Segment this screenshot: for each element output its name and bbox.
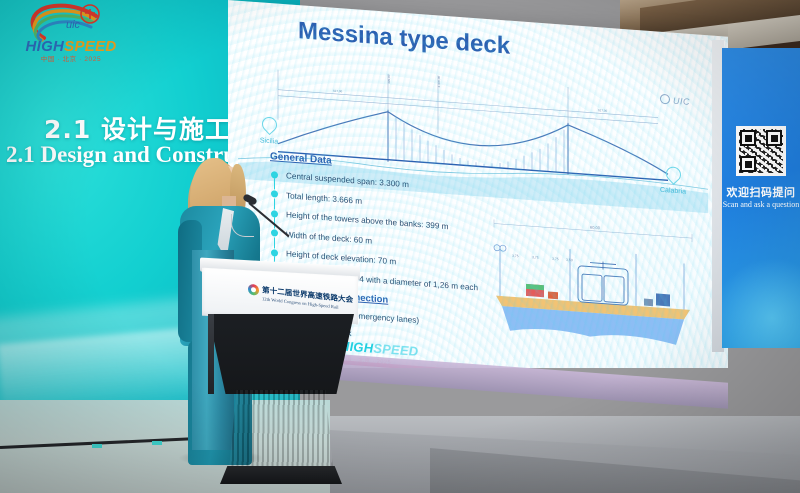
qr-question-banner: 欢迎扫码提问 Scan and ask a question [722, 48, 800, 348]
qr-caption-english: Scan and ask a question [722, 200, 800, 209]
qr-finder-icon [740, 130, 756, 146]
lectern-body [208, 314, 354, 394]
cable-tape-marker [152, 441, 162, 445]
qr-caption-chinese: 欢迎扫码提问 [722, 184, 800, 200]
svg-text:3.300,00: 3.300,00 [437, 75, 441, 87]
lectern-sign: 第十二届世界高速铁路大会 12th World Congress on High… [262, 284, 362, 312]
banner-glow [722, 258, 800, 348]
svg-text:627,00: 627,00 [333, 89, 342, 94]
svg-text:60,00: 60,00 [590, 225, 601, 231]
cable-tape-marker [92, 444, 102, 448]
mic-capsule-icon [242, 193, 258, 206]
svg-text:3,75: 3,75 [532, 255, 539, 259]
location-pin-icon [258, 114, 279, 135]
mic-gooseneck [248, 202, 289, 237]
location-pin-icon [662, 164, 683, 185]
lectern-base [220, 466, 342, 484]
slide-title: Messina type deck [298, 17, 510, 61]
svg-text:3,50: 3,50 [566, 258, 573, 262]
logo-swoosh-icon: uic [14, 2, 122, 42]
svg-text:uic: uic [66, 19, 81, 31]
lectern: 第十二届世界高速铁路大会 12th World Congress on High… [200, 262, 360, 484]
uic-highspeed-logo: uic HIGHSPEED 中国 · 北京 · 2025 [14, 2, 122, 64]
congress-logo-icon [248, 284, 259, 296]
podium-microphone [243, 196, 303, 262]
lectern-side-edge [208, 314, 214, 394]
svg-text:399,00: 399,00 [387, 74, 391, 84]
qr-code-image[interactable] [736, 126, 786, 176]
logo-subtitle: 中国 · 北京 · 2025 [19, 53, 123, 63]
svg-text:627,00: 627,00 [598, 108, 607, 113]
qr-finder-icon [740, 156, 756, 172]
svg-text:3,75: 3,75 [552, 257, 559, 261]
conference-stage-photo: uic HIGHSPEED 中国 · 北京 · 2025 2.1 设计与施工 2… [0, 0, 800, 493]
qr-finder-icon [766, 130, 782, 146]
map-pin-calabria: Calabria [660, 166, 686, 196]
map-pin-sicilia: Sicilia [256, 116, 282, 146]
